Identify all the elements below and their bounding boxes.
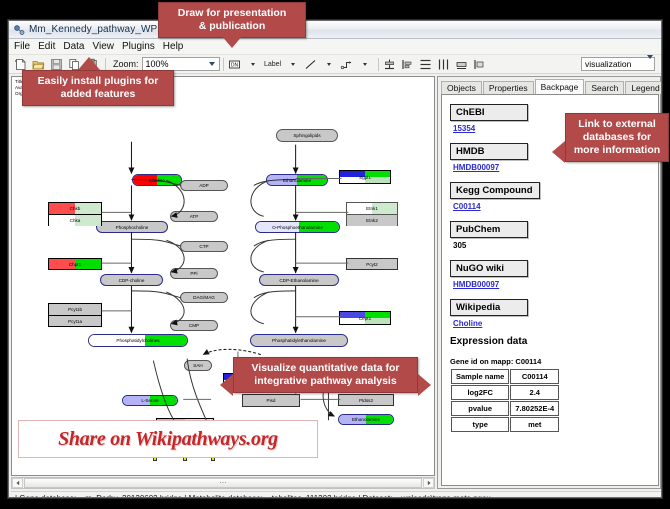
callout-links-arrow (552, 141, 565, 163)
db-name-pubchem: PubChem (450, 221, 528, 238)
gene-label: Etnk1 (366, 206, 378, 211)
node-label: SAH (193, 363, 202, 368)
status-bar: | Gene database: ...m_Derby_20120602.bri… (11, 491, 661, 498)
callout-plugins-line1: Easily install plugins for (29, 75, 167, 88)
db-block-wikipedia: Wikipedia Choline (450, 297, 658, 328)
gene-ptdss2[interactable]: Ptdss2 (338, 394, 394, 406)
visualization-combobox[interactable]: visualization (581, 57, 655, 71)
gene-group-chk: Chkb Chka (48, 202, 102, 226)
menu-data[interactable]: Data (63, 41, 89, 52)
tab-objects[interactable]: Objects (441, 81, 482, 94)
toolbar-separator-3 (378, 58, 379, 71)
callout-links: Link to external databases for more info… (565, 113, 669, 162)
node-ppi[interactable]: PPi (170, 268, 218, 279)
db-block-pubchem: PubChem 305 (450, 219, 658, 250)
distribute-vertical-icon[interactable] (418, 56, 434, 72)
tab-properties[interactable]: Properties (483, 81, 534, 94)
chevron-down-icon-2[interactable] (647, 59, 653, 69)
callout-visualize-arrow (220, 374, 233, 396)
gene-id-on-mapp: Gene id on mapp: C00114 (450, 357, 658, 366)
gene-pcyt2[interactable]: Pcyt2 (346, 258, 398, 270)
gene-group-etnk: Etnk1 Etnk2 (346, 202, 398, 226)
node-label: Choline (149, 178, 165, 183)
screenshot-root: Mm_Kennedy_pathway_WP1771_45176.gpml Fil… (0, 0, 670, 509)
gene-label: Ptdss2 (359, 398, 373, 403)
toolbar-separator-1 (105, 58, 106, 71)
node-phosphatidylcholines[interactable]: Phosphatidylcholines (88, 334, 188, 347)
share-banner: Share on Wikipathways.org (18, 420, 318, 458)
menu-plugins[interactable]: Plugins (122, 41, 160, 52)
gene-label: Sgpl1 (359, 175, 371, 180)
datanode-dropdown-icon[interactable] (245, 56, 261, 72)
zoom-label: Zoom: (113, 59, 139, 69)
node-l-serine-left[interactable]: L-Serine (122, 395, 178, 406)
toolbar-separator-2 (223, 58, 224, 71)
node-cmp[interactable]: CMP (170, 320, 218, 331)
gene-label: Chkb (70, 206, 81, 211)
node-label: ADP (199, 183, 208, 188)
callout-visualize-line1: Visualize quantitative data for (240, 362, 411, 375)
bring-front-icon[interactable] (472, 56, 488, 72)
db-block-nugo: NuGO wiki HMDB00097 (450, 258, 658, 289)
zoom-combobox[interactable]: 100% (142, 57, 220, 71)
menu-bar: File Edit Data View Plugins Help (9, 39, 661, 55)
gene-pcyt1a[interactable]: Pcyt1a (49, 316, 101, 327)
node-label: Ethanolamine (352, 417, 380, 422)
callout-links-line2: databases for (572, 131, 662, 144)
scroll-right-icon[interactable] (423, 478, 434, 488)
table-cell-key: Sample name (451, 369, 509, 384)
pathway-canvas[interactable]: Title: Availa Organi (11, 76, 435, 476)
callout-draw: Draw for presentation & publication (158, 2, 306, 38)
table-row: pvalue 7.80252E-4 (451, 401, 559, 416)
tab-backpage[interactable]: Backpage (535, 79, 585, 94)
node-label: Phosphocholine (116, 225, 149, 230)
distribute-horizontal-icon[interactable] (436, 56, 452, 72)
table-row: type met (451, 417, 559, 432)
gene-chkb[interactable]: Chkb (49, 203, 101, 215)
callout-visualize: Visualize quantitative data for integrat… (233, 357, 418, 393)
canvas-horizontal-scrollbar[interactable]: ⋯ (11, 477, 435, 489)
table-cell-key: log2FC (451, 385, 509, 400)
db-link-kegg[interactable]: C00114 (453, 202, 658, 211)
callout-draw-line1: Draw for presentation (165, 7, 299, 20)
menu-edit[interactable]: Edit (38, 41, 60, 52)
menu-help[interactable]: Help (163, 41, 189, 52)
node-choline[interactable]: Choline (132, 174, 182, 186)
size-equal-icon[interactable] (454, 56, 470, 72)
label-tool[interactable]: Label (263, 56, 283, 72)
callout-plugins-arrow (78, 57, 100, 70)
db-link-nugo[interactable]: HMDB00097 (453, 280, 658, 289)
node-ctp[interactable]: CTP (180, 241, 228, 252)
gene-label: Chpt1 (69, 262, 81, 267)
datanode-icon[interactable]: DN (227, 56, 243, 72)
node-dag-mag[interactable]: DAG/MAG (180, 292, 228, 303)
node-label: CTP (199, 244, 208, 249)
node-label: PPi (190, 271, 197, 276)
line-tool-icon[interactable] (303, 56, 319, 72)
node-cdp-choline[interactable]: CDP-choline (100, 274, 163, 286)
node-adp[interactable]: ADP (180, 180, 228, 191)
table-row: log2FC 2.4 (451, 385, 559, 400)
callout-links-line1: Link to external (572, 118, 662, 131)
node-label: Ethanolamine (283, 178, 311, 183)
gene-chka[interactable]: Chka (49, 215, 101, 226)
side-panel-tabs: Objects Properties Backpage Search Legen… (438, 79, 660, 94)
db-link-wikipedia[interactable]: Choline (453, 319, 658, 328)
db-name-kegg: Kegg Compound (450, 182, 540, 199)
gene-etnk2[interactable]: Etnk2 (347, 215, 397, 226)
label-dropdown-icon[interactable] (285, 56, 301, 72)
db-value-pubchem: 305 (453, 241, 658, 250)
scroll-left-icon[interactable] (12, 478, 23, 488)
gene-chpt1[interactable]: Chpt1 (48, 258, 102, 270)
node-sphingolipids[interactable]: Sphingolipids (276, 129, 338, 142)
tab-search[interactable]: Search (585, 81, 624, 94)
share-banner-text: Share on Wikipathways.org (58, 428, 278, 451)
callout-visualize-arrow-right (418, 374, 431, 396)
gene-label: Chka (70, 218, 81, 223)
node-label: Phosphatidylethanolamine (272, 338, 326, 343)
status-text: | Gene database: ...m_Derby_20120602.bri… (15, 494, 491, 498)
svg-text:DN: DN (231, 62, 239, 68)
node-atp[interactable]: ATP (170, 211, 218, 222)
chevron-down-icon[interactable] (206, 58, 218, 70)
db-link-hmdb[interactable]: HMDB00097 (453, 163, 658, 172)
db-name-nugo: NuGO wiki (450, 260, 528, 277)
node-label: ATP (190, 214, 199, 219)
table-cell-value: C00114 (510, 369, 559, 384)
callout-plugins-line2: added features (29, 88, 167, 101)
callout-draw-arrow (221, 35, 243, 48)
node-o-phosphoethanolamine[interactable]: O-Phosphoethanolamine (255, 221, 340, 233)
db-name-wikipedia: Wikipedia (450, 299, 528, 316)
node-label: L-Serine (141, 398, 158, 403)
node-ethanolamine[interactable]: Ethanolamine (266, 174, 328, 186)
table-cell-value: 2.4 (510, 385, 559, 400)
node-phosphatidylethanolamine[interactable]: Phosphatidylethanolamine (250, 334, 348, 347)
node-sah[interactable]: SAH (184, 360, 212, 371)
db-block-kegg: Kegg Compound C00114 (450, 180, 658, 211)
menu-view[interactable]: View (92, 41, 119, 52)
gene-cept1[interactable]: Cept1 (339, 311, 391, 325)
connector-tool-icon[interactable] (339, 56, 355, 72)
expression-table: Sample name C00114 log2FC 2.4 pvalue 7.8… (450, 368, 560, 433)
zoom-value: 100% (146, 59, 169, 69)
callout-draw-line2: & publication (165, 20, 299, 33)
gene-group-pcyt1: Pcyt1b Pcyt1a (48, 303, 102, 327)
gene-label: Pcyt1b (68, 307, 82, 312)
align-top-icon[interactable] (382, 56, 398, 72)
gene-sgpl1[interactable]: Sgpl1 (339, 170, 391, 184)
line-dropdown-icon[interactable] (321, 56, 337, 72)
connector-dropdown-icon[interactable] (357, 56, 373, 72)
node-label: DAG/MAG (193, 295, 215, 300)
node-label: CDP-Ethanolamine (279, 278, 318, 283)
table-row: Sample name C00114 (451, 369, 559, 384)
expression-data-heading: Expression data (450, 336, 658, 347)
node-ethanolamine-bottom[interactable]: Ethanolamine (338, 414, 394, 425)
node-label: Sphingolipids (293, 133, 320, 138)
gene-label: Cept1 (359, 316, 371, 321)
table-cell-value: met (510, 417, 559, 432)
table-cell-value: 7.80252E-4 (510, 401, 559, 416)
gene-label: Pcyt2 (366, 262, 378, 267)
node-label: Phosphatidylcholines (116, 338, 159, 343)
menu-file[interactable]: File (14, 41, 35, 52)
scroll-thumb[interactable]: ⋯ (24, 478, 422, 488)
node-label: CDP-choline (119, 278, 145, 283)
node-cdp-ethanolamine[interactable]: CDP-Ethanolamine (259, 274, 339, 286)
tab-legend[interactable]: Legend (625, 81, 662, 94)
table-cell-key: pvalue (451, 401, 509, 416)
table-cell-key: type (451, 417, 509, 432)
node-label: O-Phosphoethanolamine (272, 225, 323, 230)
pathvisio-icon (13, 24, 25, 36)
db-name-hmdb: HMDB (450, 143, 528, 160)
node-phosphocholine[interactable]: Phosphocholine (96, 221, 168, 233)
node-label: CMP (189, 323, 199, 328)
gene-etnk1[interactable]: Etnk1 (347, 203, 397, 215)
gene-label: Pcyt1a (68, 319, 82, 324)
callout-plugins: Easily install plugins for added feature… (22, 70, 174, 106)
callout-links-line3: more information (572, 144, 662, 157)
gene-pcyt1b[interactable]: Pcyt1b (49, 304, 101, 316)
db-name-chebi: ChEBI (450, 104, 528, 121)
gene-label: Pisd (267, 398, 276, 403)
align-left-icon[interactable] (400, 56, 416, 72)
title-bar: Mm_Kennedy_pathway_WP1771_45176.gpml (9, 21, 661, 39)
visualization-value: visualization (585, 59, 631, 69)
gene-label: Etnk2 (366, 218, 378, 223)
callout-visualize-line2: integrative pathway analysis (240, 375, 411, 388)
gene-pisd[interactable]: Pisd (242, 394, 300, 407)
